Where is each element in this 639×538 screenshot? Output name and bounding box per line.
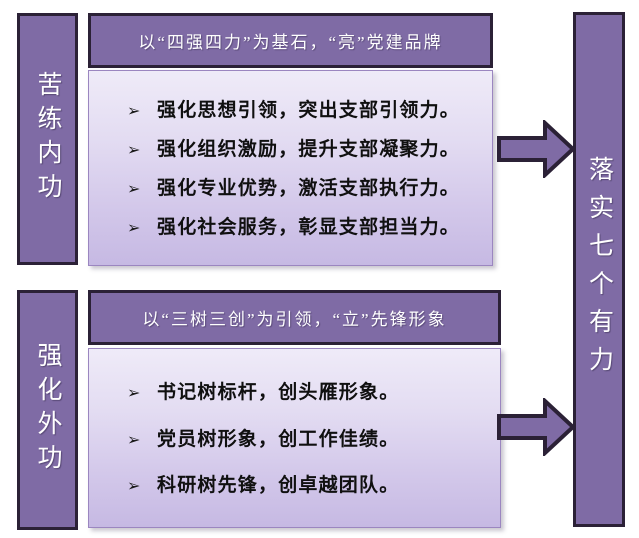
bullet-arrow-icon: ➢ xyxy=(127,478,157,494)
section-2-header-bar: 以“三树三创”为引领，“立”先锋形象 xyxy=(88,290,501,345)
list-item: ➢ 书记树标杆，创头雁形象。 xyxy=(89,383,500,404)
left-category-bar-2-label: 强化外功 xyxy=(35,342,60,478)
list-item-label: 强化组织激励，提升支部凝聚力。 xyxy=(157,140,460,161)
list-item: ➢ 强化组织激励，提升支部凝聚力。 xyxy=(89,140,492,161)
list-item-label: 强化专业优势，激活支部执行力。 xyxy=(157,179,460,200)
bullet-arrow-icon: ➢ xyxy=(127,103,157,119)
list-item: ➢ 党员树形象，创工作佳绩。 xyxy=(89,430,500,451)
right-arrow-icon-top xyxy=(497,120,575,178)
section-2-header-label: 以“三树三创”为引领，“立”先锋形象 xyxy=(142,305,446,330)
left-category-bar-1: 苦练内功 xyxy=(17,13,78,265)
right-arrow-icon-bottom xyxy=(497,398,575,456)
list-item-label: 强化社会服务，彰显支部担当力。 xyxy=(157,218,460,239)
bullet-arrow-icon: ➢ xyxy=(127,220,157,236)
left-category-bar-2: 强化外功 xyxy=(17,290,78,530)
list-item: ➢ 强化思想引领，突出支部引领力。 xyxy=(89,101,492,122)
bullet-arrow-icon: ➢ xyxy=(127,432,157,448)
section-1-header-label: 以“四强四力”为基石，“亮”党建品牌 xyxy=(138,28,442,53)
diagram-canvas: 苦练内功 强化外功 以“四强四力”为基石，“亮”党建品牌 ➢ 强化思想引领，突出… xyxy=(0,0,639,538)
outcome-bar-label: 落实七个有力 xyxy=(587,156,612,384)
bullet-arrow-icon: ➢ xyxy=(127,385,157,401)
list-item-label: 党员树形象，创工作佳绩。 xyxy=(157,430,399,451)
section-1-header-bar: 以“四强四力”为基石，“亮”党建品牌 xyxy=(88,13,493,68)
list-item-label: 科研树先锋，创卓越团队。 xyxy=(157,476,399,497)
list-item: ➢ 强化社会服务，彰显支部担当力。 xyxy=(89,218,492,239)
left-category-bar-1-label: 苦练内功 xyxy=(35,71,60,207)
section-1-content-box: ➢ 强化思想引领，突出支部引领力。 ➢ 强化组织激励，提升支部凝聚力。 ➢ 强化… xyxy=(88,70,493,266)
section-2-content-box: ➢ 书记树标杆，创头雁形象。 ➢ 党员树形象，创工作佳绩。 ➢ 科研树先锋，创卓… xyxy=(88,348,501,528)
outcome-bar: 落实七个有力 xyxy=(573,12,625,527)
list-item: ➢ 科研树先锋，创卓越团队。 xyxy=(89,476,500,497)
bullet-arrow-icon: ➢ xyxy=(127,142,157,158)
list-item-label: 强化思想引领，突出支部引领力。 xyxy=(157,101,460,122)
list-item-label: 书记树标杆，创头雁形象。 xyxy=(157,383,399,404)
bullet-arrow-icon: ➢ xyxy=(127,181,157,197)
list-item: ➢ 强化专业优势，激活支部执行力。 xyxy=(89,179,492,200)
